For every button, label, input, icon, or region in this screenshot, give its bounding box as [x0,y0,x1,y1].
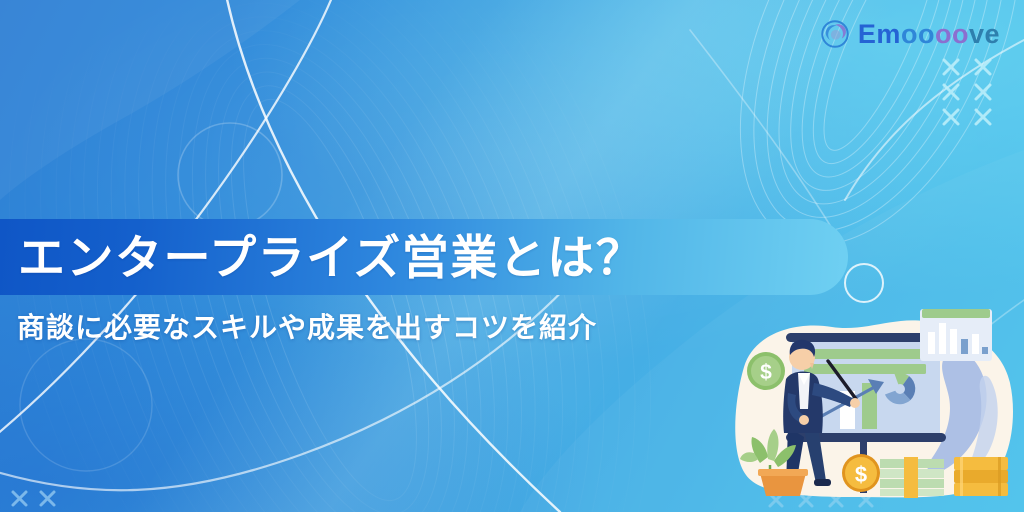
x-marks-bottom-left [13,492,54,505]
green-dollar-coin: $ [747,352,785,390]
logo-text-part-1: Em [858,19,901,49]
logo-text-part-4: ve [969,19,1000,49]
page-title: エンタープライズ営業とは？ [18,234,644,281]
page-subtitle: 商談に必要なスキルや成果を出すコツを紹介 [17,310,597,345]
bar-chart-card [920,309,992,361]
title-banner: エンタープライズ営業とは？ [0,219,848,295]
logo-text-part-2: oo [901,19,935,49]
banner-image: Emoooove エンタープライズ営業とは？ 商談に必要なスキルや成果を出すコツ… [0,0,1024,512]
business-presentation-illustration: $ [724,287,1024,512]
svg-text:$: $ [855,462,867,487]
logo-text-part-3: oo [935,19,969,49]
svg-text:$: $ [760,361,772,384]
logo[interactable]: Emoooove [820,19,1000,49]
gold-money-stack [954,457,1008,496]
logo-text: Emoooove [858,21,1000,48]
cash-stacks [880,457,944,498]
gold-dollar-coin: $ [842,454,880,492]
emooove-swirl-logo-icon [820,19,850,49]
x-marks-top-right [944,60,990,124]
